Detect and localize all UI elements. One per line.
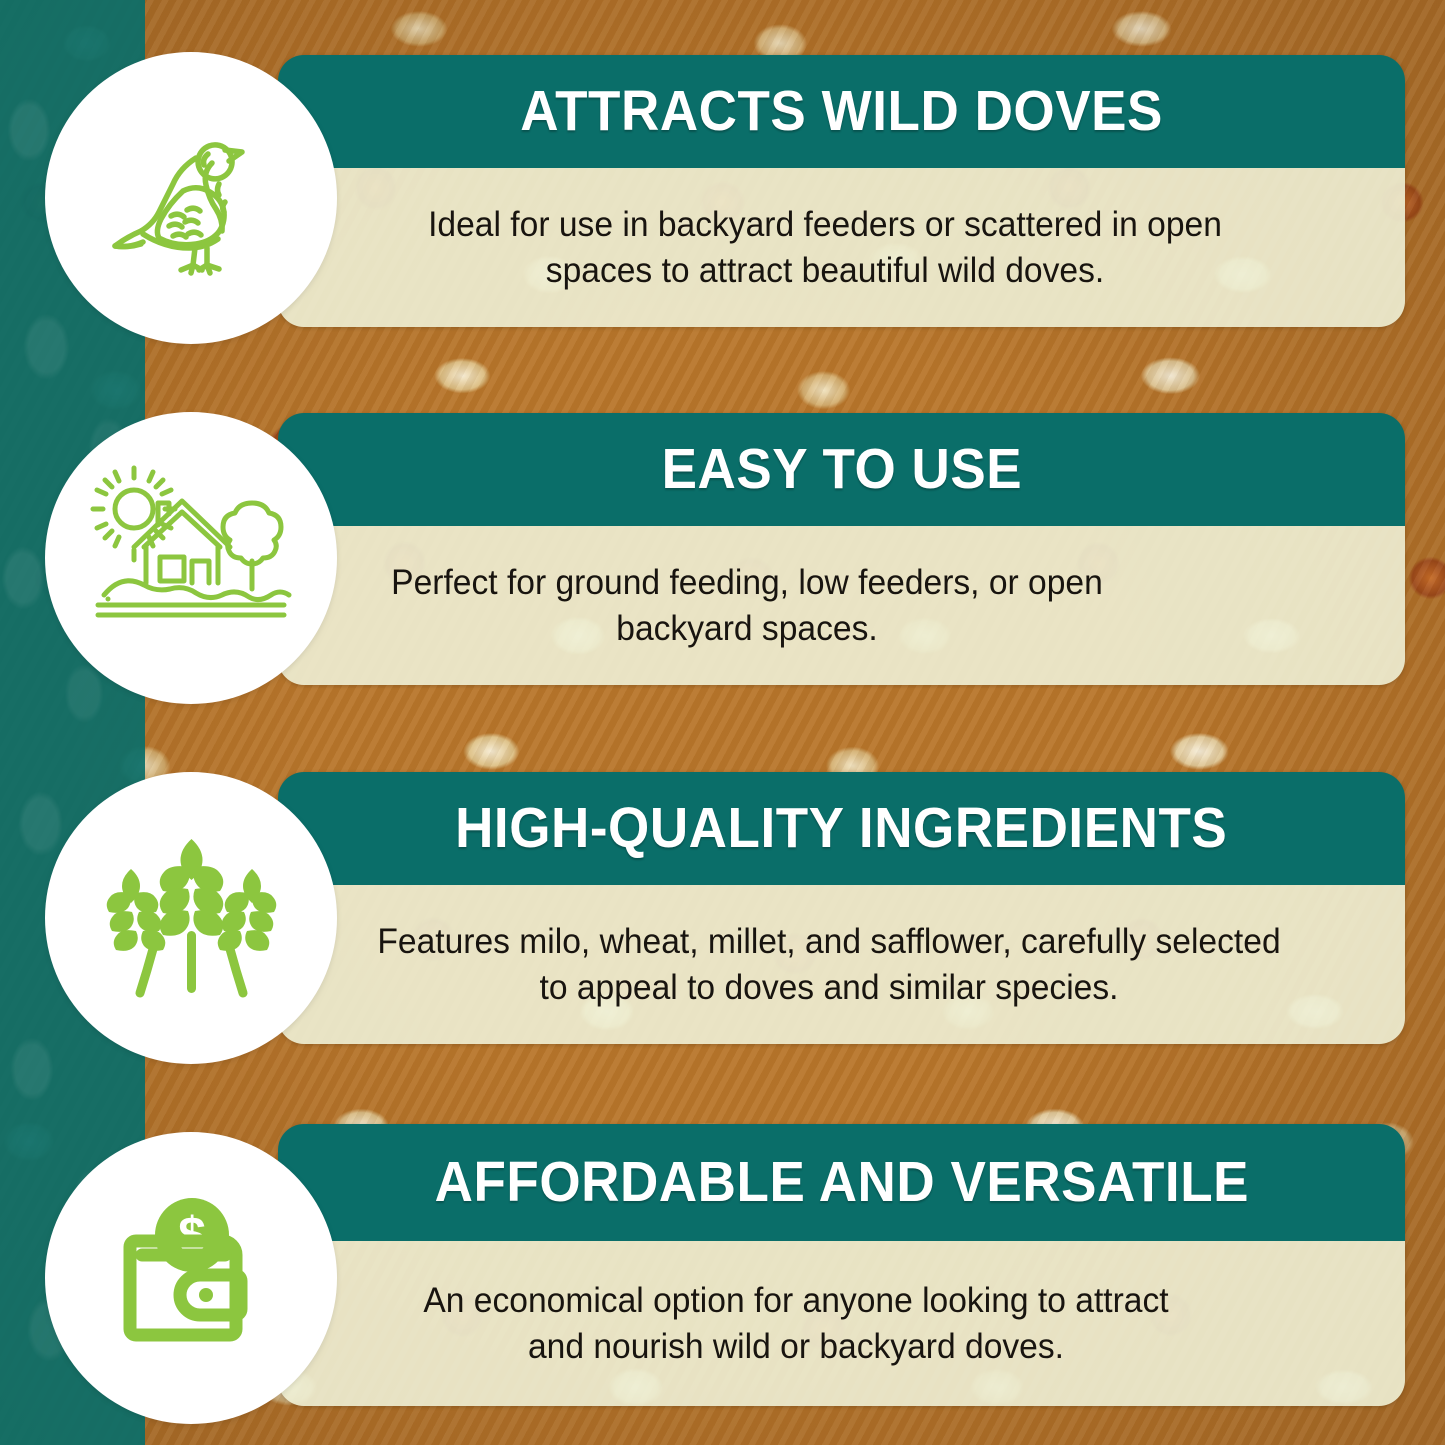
card-header: HIGH-QUALITY INGREDIENTS xyxy=(278,772,1405,885)
card-header: AFFORDABLE AND VERSATILE xyxy=(278,1124,1405,1241)
infographic-root: ATTRACTS WILD DOVES Ideal for use in bac… xyxy=(0,0,1445,1445)
card-title: ATTRACTS WILD DOVES xyxy=(520,83,1163,140)
card-header: EASY TO USE xyxy=(278,413,1405,526)
farmhouse-landscape-icon xyxy=(86,463,296,653)
card-body: Perfect for ground feeding, low feeders,… xyxy=(278,526,1405,685)
card-body: Ideal for use in backyard feeders or sca… xyxy=(278,168,1405,327)
card-title: HIGH-QUALITY INGREDIENTS xyxy=(455,800,1227,857)
dove-icon xyxy=(91,98,291,298)
feature-card-attracts-wild-doves: ATTRACTS WILD DOVES Ideal for use in bac… xyxy=(278,55,1405,327)
card-body: An economical option for anyone looking … xyxy=(278,1241,1405,1406)
card-title: AFFORDABLE AND VERSATILE xyxy=(434,1154,1248,1211)
card-description: Perfect for ground feeding, low feeders,… xyxy=(343,560,1149,651)
icon-badge-wheat xyxy=(45,772,337,1064)
card-body: Features milo, wheat, millet, and safflo… xyxy=(278,885,1405,1044)
wheat-stalks-icon xyxy=(91,823,291,1013)
card-description: Ideal for use in backyard feeders or sca… xyxy=(354,202,1295,293)
card-description: An economical option for anyone looking … xyxy=(359,1278,1233,1369)
icon-badge-wallet: $ xyxy=(45,1132,337,1424)
card-header: ATTRACTS WILD DOVES xyxy=(278,55,1405,168)
feature-card-easy-to-use: EASY TO USE Perfect for ground feeding, … xyxy=(278,413,1405,685)
wallet-dollar-icon: $ xyxy=(96,1183,286,1373)
card-description: Features milo, wheat, millet, and safflo… xyxy=(329,919,1327,1010)
icon-badge-farmhouse xyxy=(45,412,337,704)
feature-card-affordable-and-versatile: AFFORDABLE AND VERSATILE An economical o… xyxy=(278,1124,1405,1406)
feature-card-high-quality-ingredients: HIGH-QUALITY INGREDIENTS Features milo, … xyxy=(278,772,1405,1044)
icon-badge-dove xyxy=(45,52,337,344)
card-title: EASY TO USE xyxy=(661,441,1022,498)
